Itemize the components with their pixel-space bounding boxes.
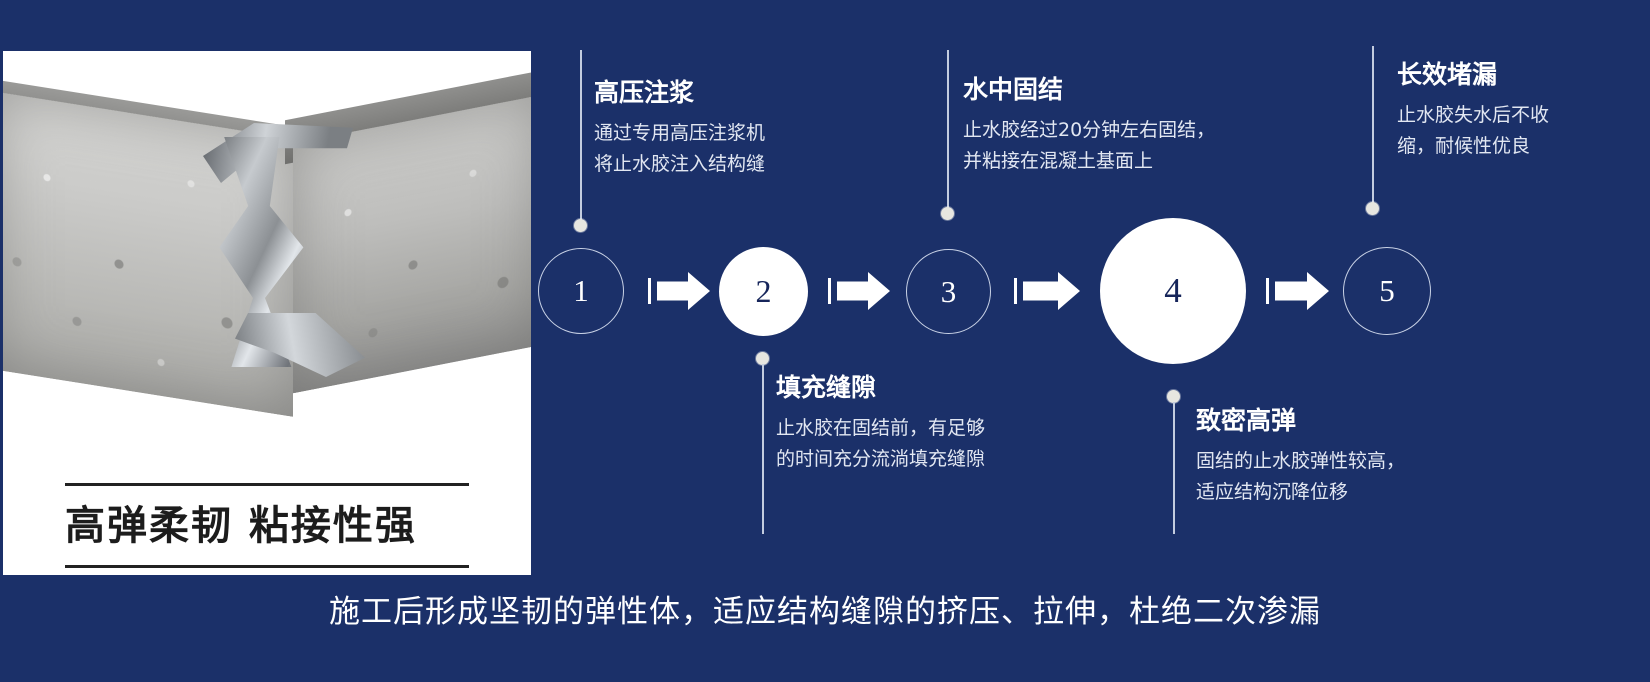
- arrow-2-to-3: [828, 272, 890, 310]
- step-text-5: 长效堵漏 止水胶失水后不收 缩，耐候性优良: [1397, 58, 1549, 162]
- flow-node-5-number: 5: [1379, 273, 1395, 309]
- flow-node-1-number: 1: [573, 273, 589, 309]
- leader-dot-step-3: [941, 207, 954, 220]
- arrow-4-to-5: [1266, 272, 1330, 310]
- arrow-shaft-icon: [837, 282, 869, 301]
- step-text-2: 填充缝隙 止水胶在固结前，有足够 的时间充分流淌填充缝隙: [776, 371, 985, 475]
- flow-node-2-number: 2: [756, 273, 772, 310]
- step-2-line-1: 止水胶在固结前，有足够: [776, 413, 985, 444]
- step-3-title: 水中固结: [963, 73, 1215, 107]
- step-5-title: 长效堵漏: [1397, 58, 1549, 92]
- footer-caption: 施工后形成坚韧的弹性体，适应结构缝隙的挤压、拉伸，杜绝二次渗漏: [0, 586, 1650, 631]
- step-1-line-1: 通过专用高压注浆机: [594, 118, 765, 149]
- step-text-1: 高压注浆 通过专用高压注浆机 将止水胶注入结构缝: [594, 76, 765, 180]
- leader-dot-step-5: [1366, 202, 1379, 215]
- flow-node-5[interactable]: 5: [1343, 247, 1431, 335]
- step-4-line-2: 适应结构沉降位移: [1196, 477, 1405, 508]
- step-2-title: 填充缝隙: [776, 371, 985, 405]
- arrow-tail-icon: [828, 278, 833, 304]
- step-text-3: 水中固结 止水胶经过20分钟左右固结， 并粘接在混凝土基面上: [963, 73, 1215, 177]
- step-4-title: 致密高弹: [1196, 404, 1405, 438]
- arrow-head-icon: [1058, 272, 1080, 310]
- arrow-tail-icon: [648, 278, 653, 304]
- step-2-line-2: 的时间充分流淌填充缝隙: [776, 444, 985, 475]
- leader-line-step-1: [580, 50, 582, 226]
- process-flow: 1 2 3 4 5: [0, 0, 1650, 682]
- step-1-line-2: 将止水胶注入结构缝: [594, 149, 765, 180]
- leader-line-step-5: [1372, 46, 1374, 206]
- arrow-head-icon: [868, 272, 890, 310]
- flow-node-4-number: 4: [1164, 271, 1182, 311]
- arrow-1-to-2: [648, 272, 710, 310]
- leader-dot-step-1: [574, 219, 587, 232]
- arrow-tail-icon: [1266, 278, 1271, 304]
- step-1-title: 高压注浆: [594, 76, 765, 110]
- step-text-4: 致密高弹 固结的止水胶弹性较高， 适应结构沉降位移: [1196, 404, 1405, 508]
- arrow-head-icon: [688, 272, 710, 310]
- infographic-stage: 高弹柔韧 粘接性强 1 2 3 4 5: [0, 0, 1650, 682]
- flow-node-2[interactable]: 2: [719, 247, 808, 336]
- step-5-line-1: 止水胶失水后不收: [1397, 100, 1549, 131]
- leader-line-step-4: [1173, 402, 1175, 534]
- leader-line-step-2: [762, 364, 764, 534]
- flow-node-3-number: 3: [941, 274, 957, 310]
- arrow-3-to-4: [1014, 272, 1082, 310]
- flow-node-3[interactable]: 3: [906, 249, 991, 334]
- arrow-tail-icon: [1014, 278, 1019, 304]
- step-3-line-2: 并粘接在混凝土基面上: [963, 146, 1215, 177]
- step-3-line-1: 止水胶经过20分钟左右固结，: [963, 115, 1215, 146]
- arrow-shaft-icon: [1275, 282, 1308, 301]
- step-5-line-2: 缩，耐候性优良: [1397, 131, 1549, 162]
- arrow-shaft-icon: [657, 282, 689, 301]
- flow-node-4[interactable]: 4: [1100, 218, 1246, 364]
- arrow-shaft-icon: [1023, 282, 1059, 301]
- arrow-head-icon: [1307, 272, 1329, 310]
- leader-line-step-3: [947, 50, 949, 212]
- flow-node-1[interactable]: 1: [538, 248, 624, 334]
- step-4-line-1: 固结的止水胶弹性较高，: [1196, 446, 1405, 477]
